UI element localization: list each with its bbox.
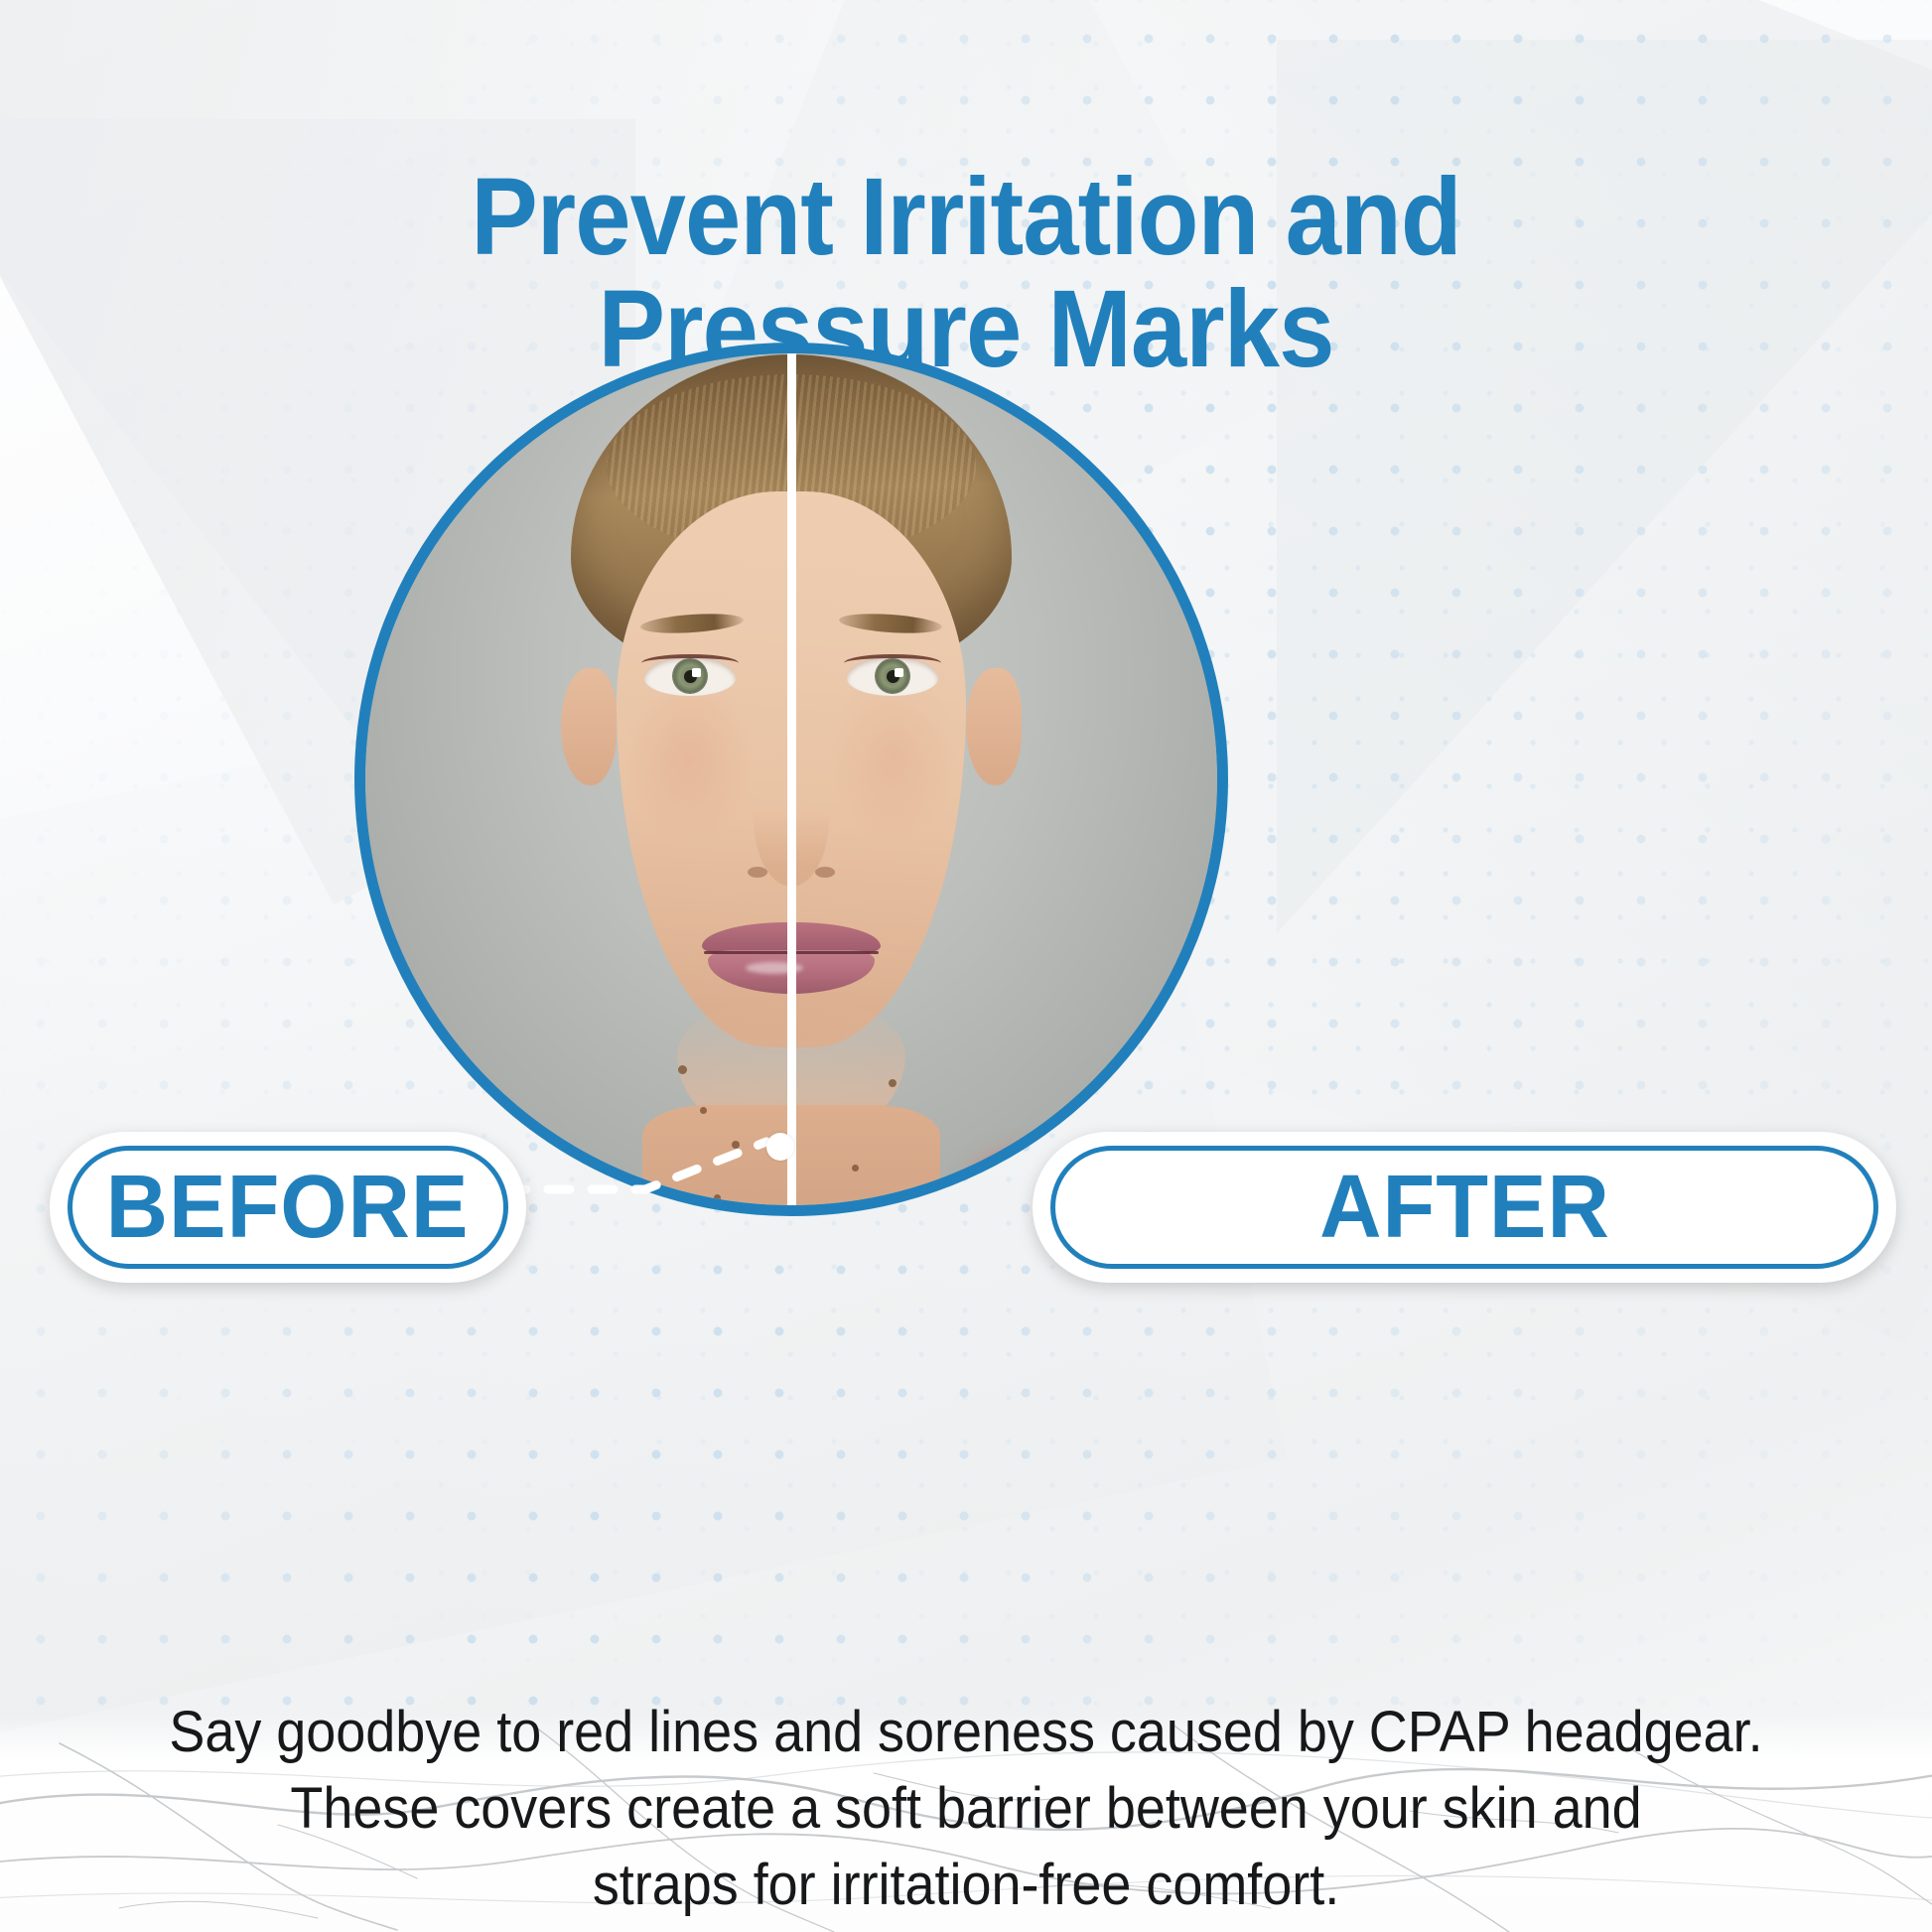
eyelash-right (844, 654, 941, 672)
caption-line-2: These covers create a soft barrier betwe… (114, 1770, 1819, 1847)
caption-line-1: Say goodbye to red lines and soreness ca… (114, 1694, 1819, 1770)
eye-left (644, 656, 736, 696)
skin-mole (678, 1065, 687, 1074)
promo-graphic: Prevent Irritation and Pressure Marks (0, 0, 1932, 1932)
badge-after[interactable]: AFTER (1033, 1132, 1896, 1283)
ear-right (966, 668, 1022, 785)
nostril-left (748, 867, 767, 878)
before-after-comparison (354, 343, 1228, 1216)
eye-right (847, 656, 938, 696)
badge-before[interactable]: BEFORE (50, 1132, 526, 1283)
badge-before-label: BEFORE (106, 1163, 470, 1252)
ear-left (561, 668, 617, 785)
nostril-right (815, 867, 835, 878)
before-after-divider (787, 353, 796, 1205)
photo-circle-frame (354, 343, 1228, 1216)
before-leader-line (496, 1112, 794, 1231)
skin-mole (852, 1165, 859, 1172)
headline-line-1: Prevent Irritation and (77, 161, 1855, 273)
skin-mole (889, 1079, 897, 1087)
badge-after-label: AFTER (1319, 1163, 1610, 1252)
before-marker-dot (766, 1133, 794, 1161)
photo-inner (365, 353, 1217, 1205)
caption-line-3: straps for irritation-free comfort. (114, 1847, 1819, 1923)
eyelash-left (641, 654, 739, 672)
caption-text: Say goodbye to red lines and soreness ca… (114, 1694, 1819, 1923)
